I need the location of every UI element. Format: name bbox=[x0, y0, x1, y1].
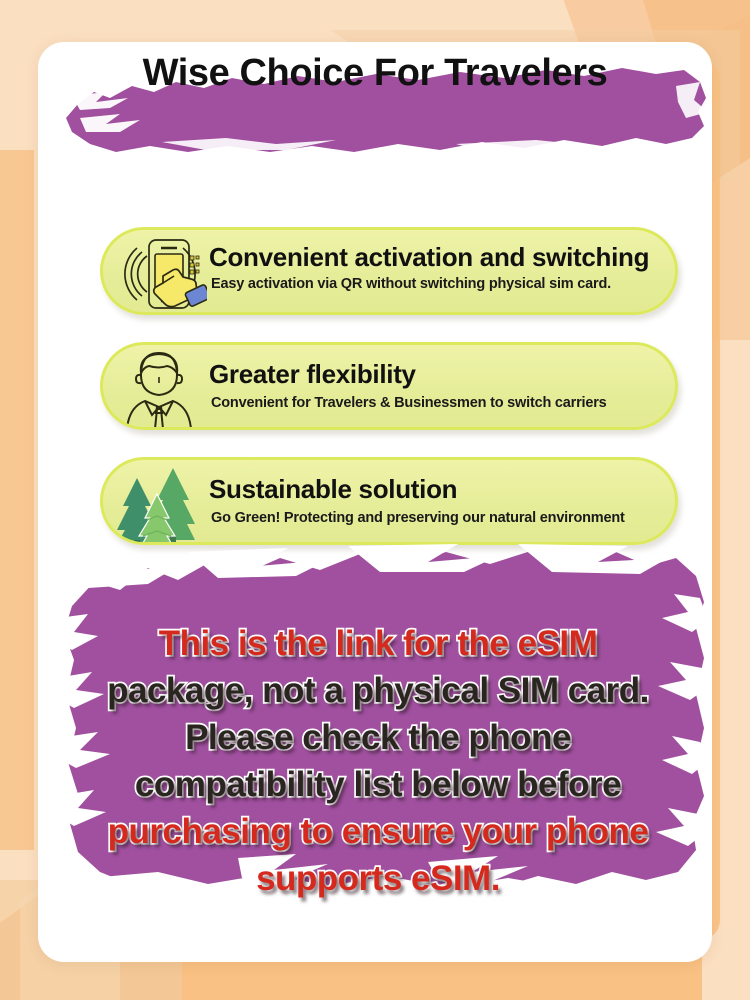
warning-line: purchasing to ensure your phone bbox=[58, 808, 698, 855]
phone-tap-qr-icon bbox=[111, 230, 207, 315]
feature-title: Greater flexibility bbox=[209, 359, 416, 390]
feature-title: Convenient activation and switching bbox=[209, 242, 649, 273]
feature-subtitle: Easy activation via QR without switching… bbox=[211, 276, 611, 292]
shoulders bbox=[127, 401, 191, 429]
head-outline bbox=[141, 353, 177, 395]
feature-subtitle: Go Green! Protecting and preserving our … bbox=[211, 510, 625, 526]
left-orange-band bbox=[0, 150, 34, 850]
warning-text: This is the link for the eSIM package, n… bbox=[58, 620, 698, 902]
signal-arc-2 bbox=[131, 252, 142, 296]
feature-subtitle: Convenient for Travelers & Businessmen t… bbox=[211, 395, 607, 411]
businessman-icon bbox=[111, 345, 207, 430]
warning-line: This is the link for the eSIM bbox=[58, 620, 698, 667]
signal-arc-3 bbox=[138, 256, 147, 292]
warning-line: package, not a physical SIM card. bbox=[58, 667, 698, 714]
warning-line: compatibility list below before bbox=[58, 761, 698, 808]
warning-line: Please check the phone bbox=[58, 714, 698, 761]
hair bbox=[141, 354, 177, 373]
page-title: Wise Choice For Travelers bbox=[38, 52, 712, 95]
feature-card-flexibility[interactable]: Greater flexibility Convenient for Trave… bbox=[100, 342, 678, 430]
feature-card-activation[interactable]: Convenient activation and switching Easy… bbox=[100, 227, 678, 315]
warning-line: supports eSIM. bbox=[58, 855, 698, 902]
feature-title: Sustainable solution bbox=[209, 474, 457, 505]
content-card: Wise Choice For Travelers bbox=[38, 42, 712, 962]
